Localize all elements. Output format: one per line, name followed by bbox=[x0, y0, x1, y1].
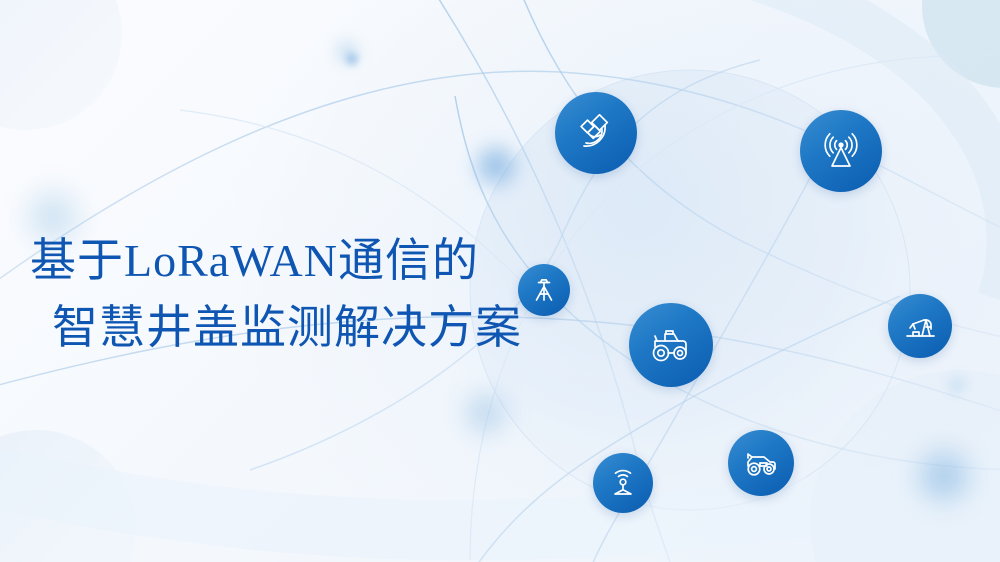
tractor-node[interactable] bbox=[629, 303, 713, 387]
oil-pumpjack-node[interactable] bbox=[888, 294, 952, 358]
decor-dot-5 bbox=[455, 382, 517, 444]
radio-tower-node[interactable] bbox=[800, 110, 882, 192]
oil-pumpjack-icon bbox=[901, 307, 939, 345]
decor-dot-7 bbox=[944, 372, 970, 398]
wireless-sensor-icon bbox=[606, 466, 640, 500]
survey-tripod-icon bbox=[529, 275, 559, 305]
survey-tripod-node[interactable] bbox=[518, 264, 570, 316]
decor-dot-2 bbox=[330, 35, 364, 69]
decor-circle-top-right bbox=[922, 0, 1000, 88]
decor-circle-bottom-right bbox=[810, 370, 1000, 562]
satellite-icon bbox=[574, 111, 618, 155]
decor-dot-1 bbox=[468, 138, 524, 194]
wireless-sensor-node[interactable] bbox=[593, 453, 653, 513]
title-line-1: 基于LoRaWAN通信的 bbox=[30, 228, 590, 295]
title-line-2: 智慧井盖监测解决方案 bbox=[30, 295, 590, 362]
slide-title: 基于LoRaWAN通信的 智慧井盖监测解决方案 bbox=[30, 228, 590, 361]
slide-canvas: 基于LoRaWAN通信的 智慧井盖监测解决方案 bbox=[0, 0, 1000, 562]
radio-tower-icon bbox=[818, 128, 864, 174]
decor-circle-top-left bbox=[0, 0, 122, 130]
decor-circle-bottom-left bbox=[0, 430, 136, 562]
satellite-node[interactable] bbox=[555, 92, 637, 174]
decor-dot-6 bbox=[908, 440, 980, 512]
decor-sweep-bottom bbox=[0, 470, 1000, 530]
tractor-icon bbox=[646, 320, 696, 370]
harvester-icon bbox=[741, 443, 781, 483]
harvester-node[interactable] bbox=[728, 430, 794, 496]
decor-dot-3 bbox=[343, 50, 361, 68]
